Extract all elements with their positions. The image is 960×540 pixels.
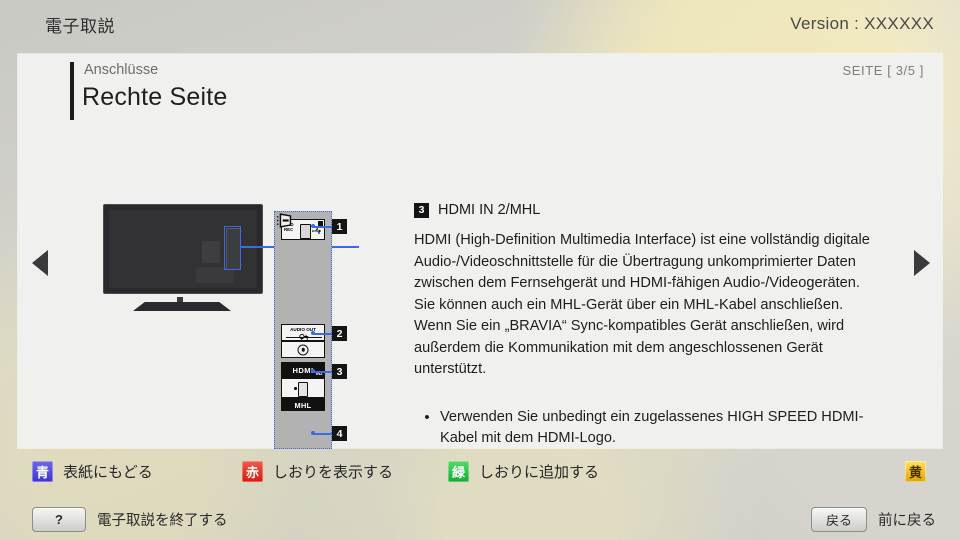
callout-dot-3: [311, 369, 315, 373]
callout-badge-4: 4: [332, 426, 347, 441]
tv-body: [103, 204, 263, 294]
bullet-marker: •: [414, 407, 440, 450]
note-bullet-item: • Verwenden Sie unbedingt ein zugelassen…: [414, 407, 874, 450]
color-key-green[interactable]: 緑 しおりに追加する: [448, 461, 599, 482]
color-key-yellow[interactable]: 黄: [905, 461, 936, 482]
content-panel: Anschlüsse Rechte Seite SEITE [ 3/5 ] HD…: [18, 54, 942, 448]
section-heading: 3 HDMI IN 2/MHL: [414, 202, 892, 218]
section-title: HDMI IN 2/MHL: [438, 202, 540, 218]
callout-badge-2: 2: [332, 326, 347, 341]
exit-label: 電子取説を終了する: [97, 509, 228, 530]
imanual-screen: question-mark-icon 電子取説 Version : XXXXXX…: [0, 0, 960, 540]
section-number-badge: 3: [414, 203, 429, 218]
callout-dot-1: [311, 224, 315, 228]
connector-hdmi-logo: HDMI IN2: [281, 362, 325, 378]
mhl-logo-text: MHL: [282, 401, 324, 410]
app-title: 電子取説: [45, 12, 115, 37]
blue-button-badge: 青: [32, 461, 53, 482]
yellow-button-badge: 黄: [905, 461, 926, 482]
color-key-bar: 青 表紙にもどる 赤 しおりを表示する 緑 しおりに追加する 黄: [0, 450, 960, 494]
top-header-bar: question-mark-icon 電子取説 Version : XXXXXX: [0, 0, 960, 48]
next-page-arrow[interactable]: [914, 250, 930, 276]
callout-badge-3: 3: [332, 364, 347, 379]
color-key-red[interactable]: 赤 しおりを表示する: [242, 461, 393, 482]
connector-audio-out-jack: [281, 341, 325, 358]
tv-stand: [133, 302, 231, 311]
red-button-label: しおりを表示する: [273, 461, 393, 482]
usb-symbol-icon: [312, 228, 323, 234]
callout-line-4: [314, 433, 332, 435]
blue-button-label: 表紙にもどる: [63, 461, 153, 482]
callout-dot-2: [311, 331, 315, 335]
red-button-badge: 赤: [242, 461, 263, 482]
usb-slot-icon: [300, 224, 311, 239]
connector-hdmi-port: [281, 378, 325, 398]
audio-out-text: AUDIO OUT: [282, 327, 324, 332]
tv-vesa-mount: [202, 241, 220, 263]
green-button-badge: 緑: [448, 461, 469, 482]
hdmi-port-dot: [294, 387, 297, 390]
back-key-button[interactable]: 戻る: [811, 507, 867, 532]
page-indicator: SEITE [ 3/5 ]: [843, 63, 925, 78]
tv-rear-illustration: [103, 204, 263, 314]
back-action[interactable]: 戻る 前に戻る: [811, 507, 936, 532]
version-label: Version : XXXXXX: [790, 14, 934, 34]
av-input-icon: [275, 212, 295, 229]
help-key-button[interactable]: ?: [32, 507, 86, 532]
section-paragraph: HDMI (High-Definition Multimedia Interfa…: [414, 230, 884, 381]
bullet-text: Verwenden Sie unbedingt ein zugelassenes…: [440, 407, 874, 450]
callout-badge-1: 1: [332, 219, 347, 234]
breadcrumb: Anschlüsse: [84, 62, 158, 78]
page-title: Rechte Seite: [82, 83, 228, 112]
section-content: 3 HDMI IN 2/MHL HDMI (High-Definition Mu…: [414, 202, 892, 450]
connector-mhl-logo: MHL: [281, 398, 325, 411]
color-key-blue[interactable]: 青 表紙にもどる: [32, 461, 153, 482]
callout-line-1: [314, 226, 332, 228]
green-button-label: しおりに追加する: [479, 461, 599, 482]
callout-line-2: [314, 333, 332, 335]
callout-line-3: [314, 371, 332, 373]
callout-dot-4: [311, 431, 315, 435]
connector-panel-diagram: HDD REC AUDIO OUT: [274, 211, 332, 449]
title-accent-bar: [70, 62, 74, 120]
tv-highlight-box: [224, 226, 241, 270]
hdmi-port-icon: [298, 382, 308, 397]
audio-jack-socket-icon: [298, 344, 309, 355]
back-label: 前に戻る: [878, 509, 936, 530]
previous-page-arrow[interactable]: [32, 250, 48, 276]
bottom-action-bar: ? 電子取説を終了する 戻る 前に戻る: [0, 498, 960, 540]
connector-av-input: [275, 212, 295, 229]
exit-action[interactable]: ? 電子取説を終了する: [32, 507, 228, 532]
